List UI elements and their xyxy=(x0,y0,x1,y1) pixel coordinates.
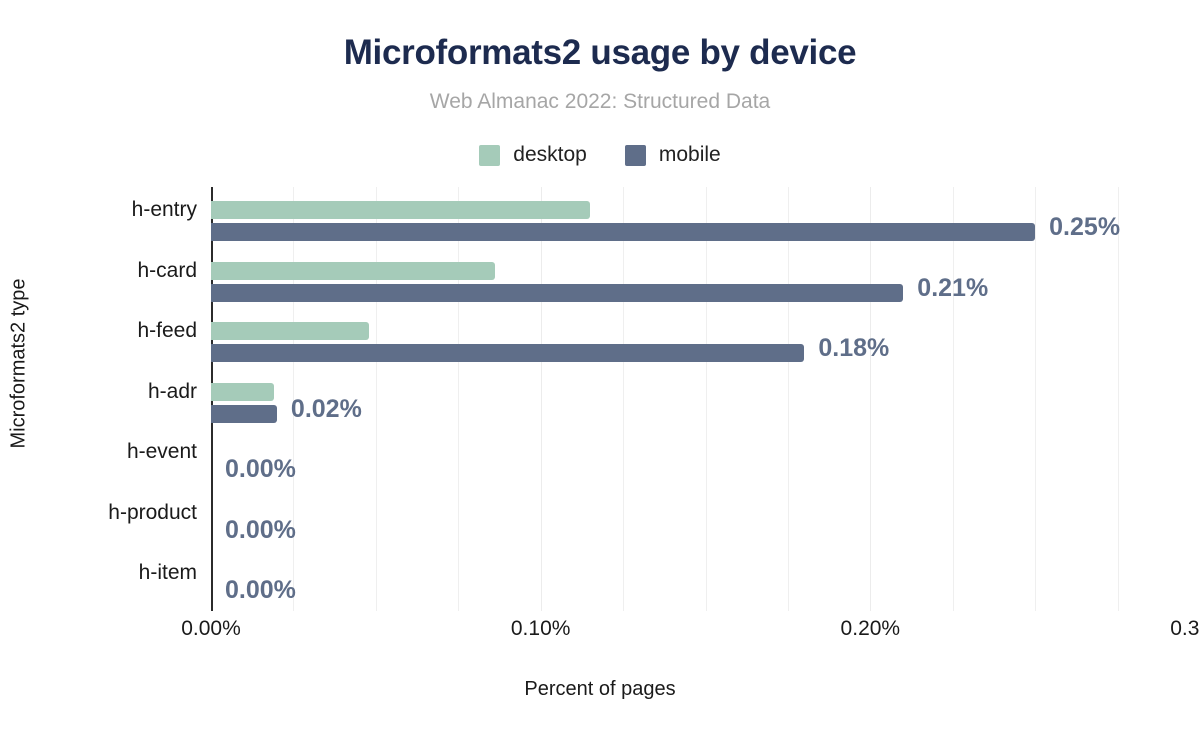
data-label-h-feed: 0.18% xyxy=(818,334,889,363)
gridline xyxy=(1118,187,1119,611)
bar-mobile-h-entry[interactable] xyxy=(211,223,1035,241)
x-axis-title: Percent of pages xyxy=(0,678,1200,701)
y-tick-h-adr: h-adr xyxy=(33,380,197,404)
chart-subtitle: Web Almanac 2022: Structured Data xyxy=(0,90,1200,114)
data-label-h-entry: 0.25% xyxy=(1049,213,1120,242)
gridline xyxy=(458,187,459,611)
y-axis-title: Microformats2 type xyxy=(8,144,31,584)
bar-mobile-h-adr[interactable] xyxy=(211,405,277,423)
chart-title: Microformats2 usage by device xyxy=(0,33,1200,73)
gridline xyxy=(870,187,871,611)
plot-area: 0.25%0.21%0.18%0.02%0.00%0.00%0.00% xyxy=(211,187,1200,611)
bar-desktop-h-adr[interactable] xyxy=(211,383,274,401)
y-tick-h-item: h-item xyxy=(33,561,197,585)
x-tick-3: 0.30% xyxy=(1170,617,1200,641)
gridline xyxy=(541,187,542,611)
gridline xyxy=(1035,187,1036,611)
y-tick-h-product: h-product xyxy=(33,501,197,525)
chart-legend: desktopmobile xyxy=(0,143,1200,167)
y-tick-h-card: h-card xyxy=(33,259,197,283)
x-tick-0: 0.00% xyxy=(181,617,241,641)
legend-item-desktop[interactable]: desktop xyxy=(479,143,587,167)
data-label-h-card: 0.21% xyxy=(917,274,988,303)
y-tick-h-event: h-event xyxy=(33,440,197,464)
bar-desktop-h-entry[interactable] xyxy=(211,201,590,219)
legend-item-mobile[interactable]: mobile xyxy=(625,143,721,167)
data-label-h-event: 0.00% xyxy=(225,455,296,484)
legend-label: desktop xyxy=(513,143,587,167)
y-tick-h-entry: h-entry xyxy=(33,198,197,222)
gridline xyxy=(953,187,954,611)
bar-desktop-h-feed[interactable] xyxy=(211,322,369,340)
x-tick-2: 0.20% xyxy=(841,617,901,641)
bar-mobile-h-card[interactable] xyxy=(211,284,903,302)
gridline xyxy=(788,187,789,611)
legend-swatch-desktop xyxy=(479,145,500,166)
data-label-h-adr: 0.02% xyxy=(291,395,362,424)
legend-label: mobile xyxy=(659,143,721,167)
data-label-h-item: 0.00% xyxy=(225,576,296,605)
data-label-h-product: 0.00% xyxy=(225,516,296,545)
bar-mobile-h-feed[interactable] xyxy=(211,344,804,362)
y-tick-h-feed: h-feed xyxy=(33,319,197,343)
chart-container: Microformats2 usage by device Web Almana… xyxy=(0,0,1200,742)
bar-desktop-h-card[interactable] xyxy=(211,262,495,280)
gridline xyxy=(706,187,707,611)
gridline xyxy=(623,187,624,611)
x-tick-1: 0.10% xyxy=(511,617,571,641)
gridline xyxy=(376,187,377,611)
legend-swatch-mobile xyxy=(625,145,646,166)
